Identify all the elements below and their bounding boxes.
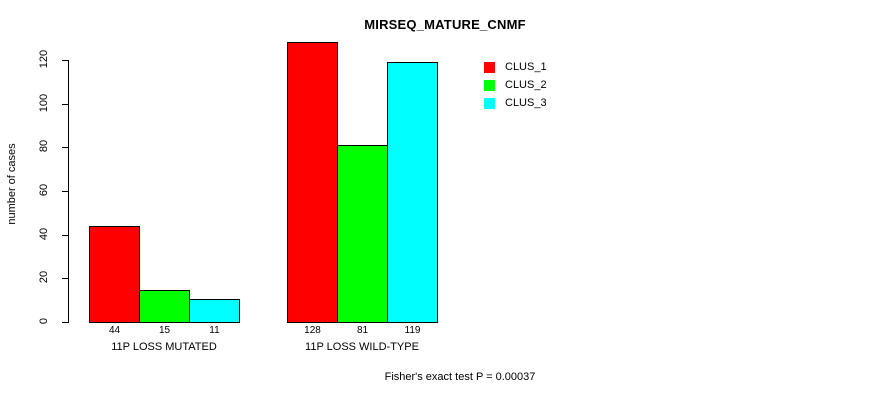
group-label-11p-loss-mutated: 11P LOSS MUTATED <box>64 341 264 353</box>
bar-clus-1-mutated[interactable] <box>89 226 140 323</box>
bar-clus-1-wild-type[interactable] <box>287 42 338 323</box>
bar-value-clus-2-wild-type: 81 <box>337 325 388 336</box>
legend-swatch-clus-2 <box>483 79 496 92</box>
statistical-test-annotation: Fisher's exact test P = 0.00037 <box>250 371 670 383</box>
legend-swatch-clus-1 <box>483 61 496 74</box>
chart-title: MIRSEQ_MATURE_CNMF <box>0 17 890 32</box>
y-tick-80 <box>62 147 69 148</box>
bar-value-clus-3-mutated: 11 <box>189 325 240 336</box>
y-tick-0 <box>62 322 69 323</box>
legend-label-clus-2: CLUS_2 <box>505 79 547 92</box>
legend-label-clus-1: CLUS_1 <box>505 61 547 74</box>
y-tick-label-40: 40 <box>38 220 50 248</box>
y-tick-label-20: 20 <box>38 263 50 291</box>
y-tick-20 <box>62 278 69 279</box>
bar-value-clus-1-mutated: 44 <box>89 325 140 336</box>
bar-value-clus-3-wild-type: 119 <box>387 325 438 336</box>
bar-clus-3-mutated[interactable] <box>189 299 240 323</box>
legend-swatch-clus-3 <box>483 97 496 110</box>
y-tick-40 <box>62 235 69 236</box>
y-tick-label-60: 60 <box>38 176 50 204</box>
y-axis-title: number of cases <box>6 124 18 244</box>
y-tick-120 <box>62 60 69 61</box>
bar-value-clus-1-wild-type: 128 <box>287 325 338 336</box>
group-label-11p-loss-wild-type: 11P LOSS WILD-TYPE <box>262 341 462 353</box>
bar-clus-3-wild-type[interactable] <box>387 62 438 323</box>
y-tick-label-0: 0 <box>38 307 50 335</box>
bar-chart: MIRSEQ_MATURE_CNMF 0 20 40 60 80 100 120… <box>0 0 890 400</box>
y-tick-100 <box>62 104 69 105</box>
bar-value-clus-2-mutated: 15 <box>139 325 190 336</box>
y-tick-60 <box>62 191 69 192</box>
y-tick-label-100: 100 <box>38 89 50 117</box>
bar-clus-2-mutated[interactable] <box>139 290 190 323</box>
legend-label-clus-3: CLUS_3 <box>505 97 547 110</box>
bar-clus-2-wild-type[interactable] <box>337 145 388 323</box>
y-tick-label-80: 80 <box>38 132 50 160</box>
y-tick-label-120: 120 <box>38 45 50 73</box>
